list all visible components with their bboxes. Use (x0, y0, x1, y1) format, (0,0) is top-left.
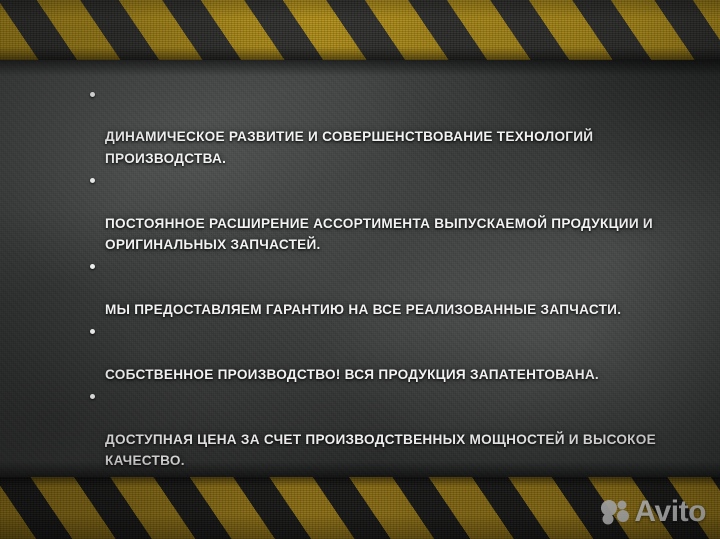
list-item-text: Мы предоставляем гарантию на все реализо… (105, 302, 621, 317)
list-item-text: Постоянное расширение ассортимента выпус… (105, 216, 653, 253)
list-item: Собственное производство! Вся продукция … (86, 321, 658, 386)
list-item: Динамическое развитие и совершенствовани… (86, 83, 658, 169)
list-item-text: Собственное производство! Вся продукция … (105, 367, 599, 382)
bullet-icon (90, 329, 95, 334)
list-item-text: Доступная цена за счет производственных … (105, 432, 656, 469)
hazard-stripe-band-top (0, 0, 720, 60)
list-item: Постоянное расширение ассортимента выпус… (86, 169, 658, 255)
list-item: Мы предоставляем гарантию на все реализо… (86, 256, 658, 321)
list-item: Доступная цена за счет производственных … (86, 385, 658, 471)
hazard-shading-top (0, 0, 720, 60)
bullet-icon (90, 264, 95, 269)
bullet-icon (90, 178, 95, 183)
poster-canvas: Динамическое развитие и совершенствовани… (0, 0, 720, 539)
avito-watermark: Avito (600, 497, 706, 527)
bullet-icon (90, 92, 95, 97)
avito-logo-icon (600, 499, 630, 525)
list-item-text: Динамическое развитие и совершенствовани… (105, 129, 593, 166)
avito-wordmark: Avito (634, 497, 706, 527)
advantages-list: Динамическое развитие и совершенствовани… (86, 83, 658, 539)
bullet-icon (90, 394, 95, 399)
